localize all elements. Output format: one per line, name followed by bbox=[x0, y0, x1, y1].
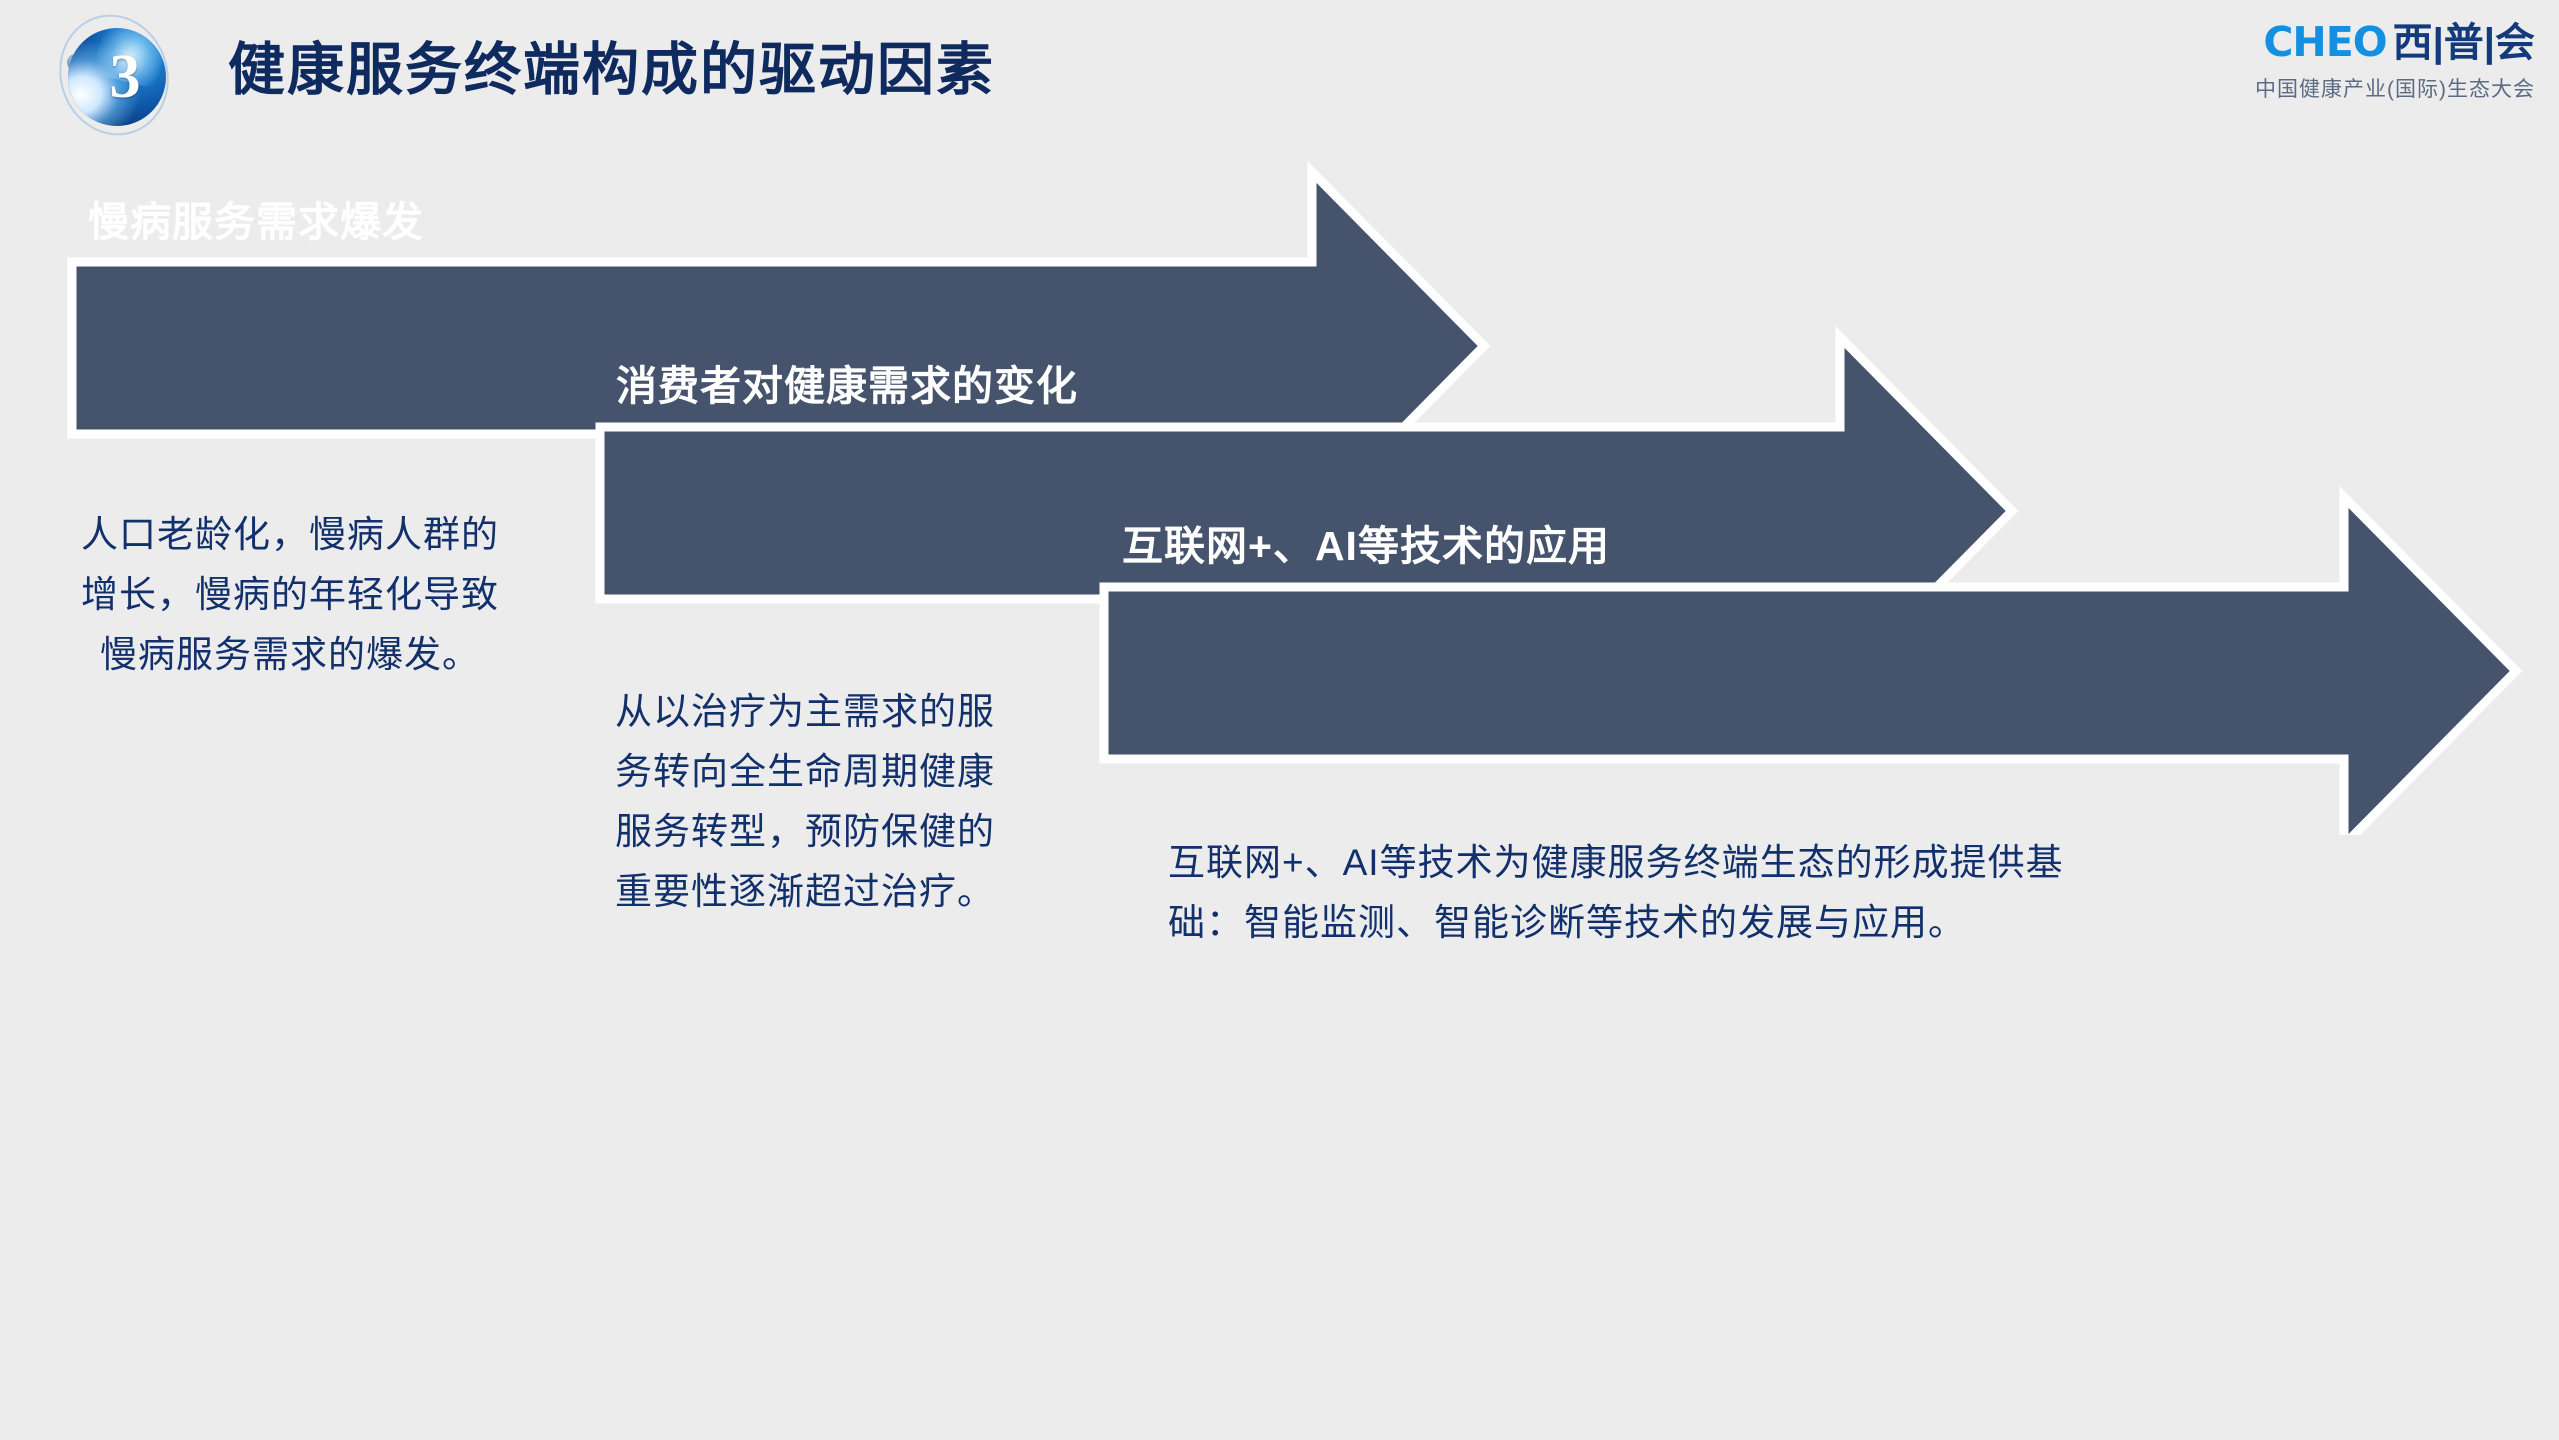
brand-logo: CHEO 西|普|会 中国健康产业(国际)生态大会 bbox=[2255, 22, 2535, 103]
arrow-3-label: 互联网+、AI等技术的应用 bbox=[1122, 512, 1610, 572]
arrow-2-label: 消费者对健康需求的变化 bbox=[616, 352, 1078, 412]
logo-wordmark: CHEO 西|普|会 bbox=[2255, 22, 2535, 66]
step-3-description: 互联网+、AI等技术为健康服务终端生态的形成提供基础：智能监测、智能诊断等技术的… bbox=[1168, 833, 2128, 953]
badge-sphere: 3 bbox=[68, 28, 166, 126]
page-title: 健康服务终端构成的驱动因素 bbox=[228, 24, 995, 106]
step-badge-icon: 3 bbox=[52, 12, 178, 138]
logo-subtitle: 中国健康产业(国际)生态大会 bbox=[2255, 73, 2535, 103]
slide-header: 3 健康服务终端构成的驱动因素 CHEO 西|普|会 中国健康产业(国际)生态大… bbox=[0, 0, 2559, 140]
logo-chinese-text: 西|普|会 bbox=[2393, 23, 2535, 63]
arrow-1-label: 慢病服务需求爆发 bbox=[88, 188, 424, 248]
step-1-description: 人口老龄化，慢病人群的增长，慢病的年轻化导致慢病服务需求的爆发。 bbox=[70, 505, 510, 685]
step-2-description: 从以治疗为主需求的服务转向全生命周期健康服务转型，预防保健的重要性逐渐超过治疗。 bbox=[600, 682, 1010, 922]
logo-latin-text: CHEO bbox=[2263, 22, 2386, 63]
badge-number: 3 bbox=[68, 28, 166, 126]
